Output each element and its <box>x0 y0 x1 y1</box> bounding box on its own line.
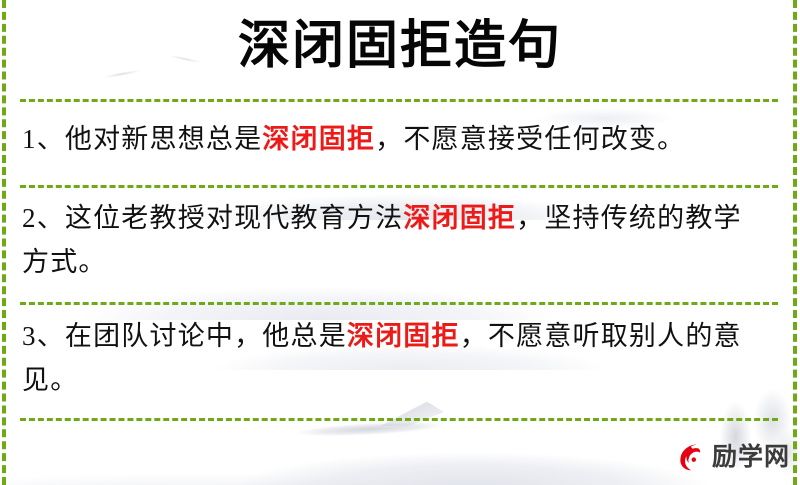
sentence-item: 2、这位老教授对现代教育方法深闭固拒，坚持传统的教学方式。 <box>22 196 764 284</box>
sentence-text-before: 在团队讨论中，他总是 <box>65 321 347 351</box>
ink-wash-boat-watermark <box>279 411 460 446</box>
site-name-label: 励学网 <box>712 442 790 472</box>
section-divider <box>20 185 778 188</box>
section-divider <box>20 418 778 421</box>
site-watermark: 励学网 <box>672 440 790 474</box>
ink-wash-sail-watermark <box>378 400 444 426</box>
page-title: 深闭固拒造句 <box>0 14 800 80</box>
sentence-text-before: 他对新思想总是 <box>65 124 262 154</box>
frame-border-left <box>2 0 6 485</box>
sentence-card-page: 深闭固拒造句 1、他对新思想总是深闭固拒，不愿意接受任何改变。 2、这位老教授对… <box>0 0 800 485</box>
ink-wash-ridge-watermark <box>0 405 760 485</box>
sentence-text-after: ，不愿意接受任何改变。 <box>375 124 685 154</box>
sentence-item: 1、他对新思想总是深闭固拒，不愿意接受任何改变。 <box>22 117 764 161</box>
sentence-item: 3、在团队讨论中，他总是深闭固拒，不愿意听取别人的意见。 <box>22 314 764 402</box>
frame-border-right <box>793 0 797 485</box>
section-divider <box>20 302 778 305</box>
sentence-number: 1、 <box>22 124 65 154</box>
section-divider <box>20 99 778 102</box>
idiom-highlight: 深闭固拒 <box>262 124 375 154</box>
sentence-text-before: 这位老教授对现代教育方法 <box>65 203 403 233</box>
sentence-number: 2、 <box>22 203 65 233</box>
sentence-number: 3、 <box>22 321 65 351</box>
red-swirl-flame-icon <box>672 440 706 474</box>
idiom-highlight: 深闭固拒 <box>347 321 460 351</box>
idiom-highlight: 深闭固拒 <box>403 203 516 233</box>
